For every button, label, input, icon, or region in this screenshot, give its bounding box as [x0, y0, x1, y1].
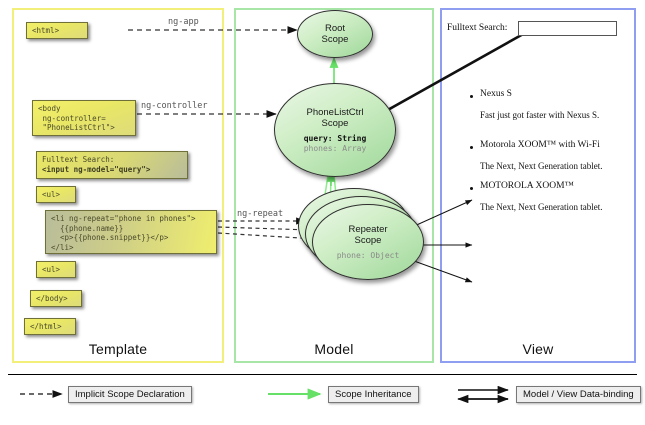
view-search-label: Fulltext Search: [447, 23, 507, 33]
edge-label-ng-repeat: ng-repeat [237, 209, 283, 219]
code-box-body-open: <body ng-controller= "PhoneListCtrl"> [32, 100, 136, 136]
panel-label-model: Model [234, 341, 434, 357]
legend-divider [8, 374, 637, 375]
view-item-name-2: Motorola XOOM™ with Wi-Fi [480, 140, 600, 150]
legend-implicit-scope-declaration: Implicit Scope Declaration [68, 386, 192, 403]
scope-repeater-title-1: Repeater [348, 224, 387, 235]
scope-root-title-1: Root [325, 23, 345, 34]
panel-label-template: Template [12, 341, 224, 357]
scope-prop-query: query: String [304, 134, 367, 144]
legend-scope-inheritance: Scope Inheritance [328, 386, 419, 403]
code-box-html-close: </html> [24, 318, 76, 335]
view-item-snippet-3: The Next, Next Generation tablet. [480, 202, 602, 212]
code-box-li-repeat: <li ng-repeat="phone in phones"> {{phone… [45, 210, 217, 254]
scope-root-title-2: Scope [322, 34, 349, 45]
view-item-name-3: MOTOROLA XOOM™ [480, 181, 574, 191]
view-bullet-2 [470, 146, 473, 149]
code-box-ul-close: <ul> [36, 261, 76, 278]
scope-prop-phones: phones: Array [304, 144, 367, 154]
scope-phonelistctrl-title-1: PhoneListCtrl [306, 107, 363, 118]
code-box-search-input: Fulltext Search:<input ng-model="query"> [36, 151, 188, 179]
legend-model-view-data-binding: Model / View Data-binding [516, 386, 641, 403]
scope-phonelistctrl-title-2: Scope [322, 118, 349, 129]
scope-repeater: Repeater Scope phone: Object [312, 204, 424, 280]
edge-label-ng-controller: ng-controller [141, 101, 208, 111]
view-bullet-3 [470, 187, 473, 190]
view-item-snippet-1: Fast just got faster with Nexus S. [480, 110, 599, 120]
legend-glyph-double [458, 390, 508, 399]
code-box-body-close: </body> [30, 290, 82, 307]
scope-repeater-props: phone: Object [337, 251, 400, 261]
panel-label-view: View [440, 341, 636, 357]
scope-root: Root Scope [297, 10, 373, 58]
view-item-snippet-2: The Next, Next Generation tablet. [480, 161, 602, 171]
search-input-markup: <input ng-model="query"> [42, 165, 150, 174]
edge-label-ng-app: ng-app [168, 17, 199, 27]
view-search-input[interactable] [518, 21, 617, 36]
scope-repeater-title-2: Scope [355, 235, 382, 246]
view-bullet-1 [470, 95, 473, 98]
diagram-canvas: <html> <body ng-controller= "PhoneListCt… [0, 0, 645, 425]
scope-phonelistctrl: PhoneListCtrl Scope query: String phones… [274, 83, 396, 177]
code-box-html-open: <html> [26, 22, 88, 39]
view-item-name-1: Nexus S [480, 89, 512, 99]
scope-prop-phone: phone: Object [337, 251, 400, 261]
scope-phonelistctrl-props: query: String phones: Array [304, 134, 367, 154]
search-input-label: Fulltext Search: [42, 155, 114, 164]
code-box-ul-open: <ul> [36, 186, 76, 203]
